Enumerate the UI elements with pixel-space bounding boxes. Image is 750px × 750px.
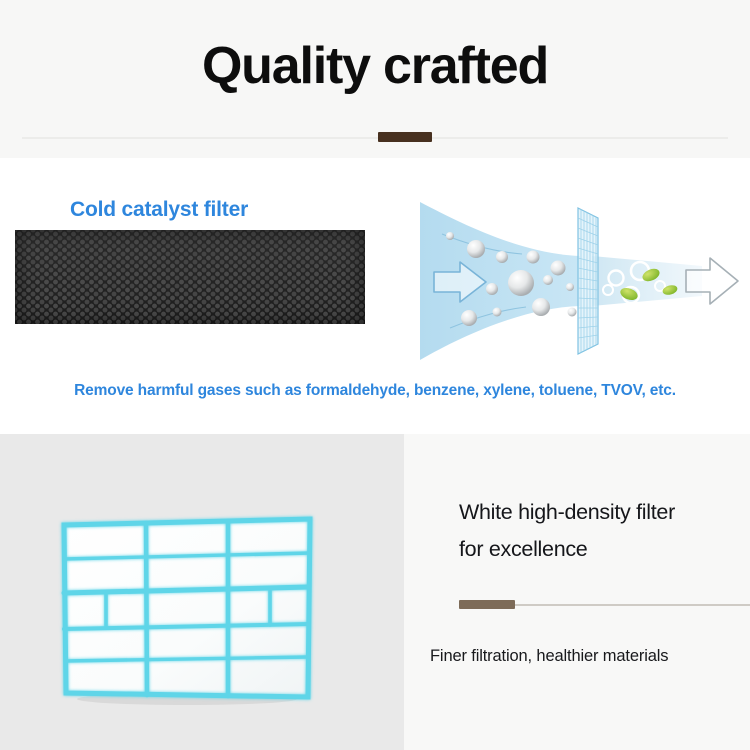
header-divider: [22, 137, 728, 139]
page-header: Quality crafted: [0, 0, 750, 158]
white-filter-image-panel: [0, 434, 404, 750]
header-accent-bar: [378, 132, 432, 142]
cold-catalyst-filter-image: [15, 230, 365, 324]
page-title: Quality crafted: [0, 34, 750, 98]
cold-catalyst-section: Cold catalyst filter: [0, 158, 750, 434]
white-filter-section: White high-density filter for excellence…: [0, 434, 750, 750]
filter-mesh-icon: [578, 208, 598, 354]
product-detail-page: Quality crafted Cold catalyst filter: [0, 0, 750, 750]
cold-catalyst-title: Cold catalyst filter: [70, 198, 248, 222]
white-filter-text-panel: [404, 434, 750, 750]
cold-catalyst-caption: Remove harmful gases such as formaldehyd…: [0, 382, 750, 400]
filtration-diagram: [402, 194, 744, 366]
white-filter-image: [58, 511, 316, 705]
arrow-right-outlet-icon: [686, 258, 738, 304]
